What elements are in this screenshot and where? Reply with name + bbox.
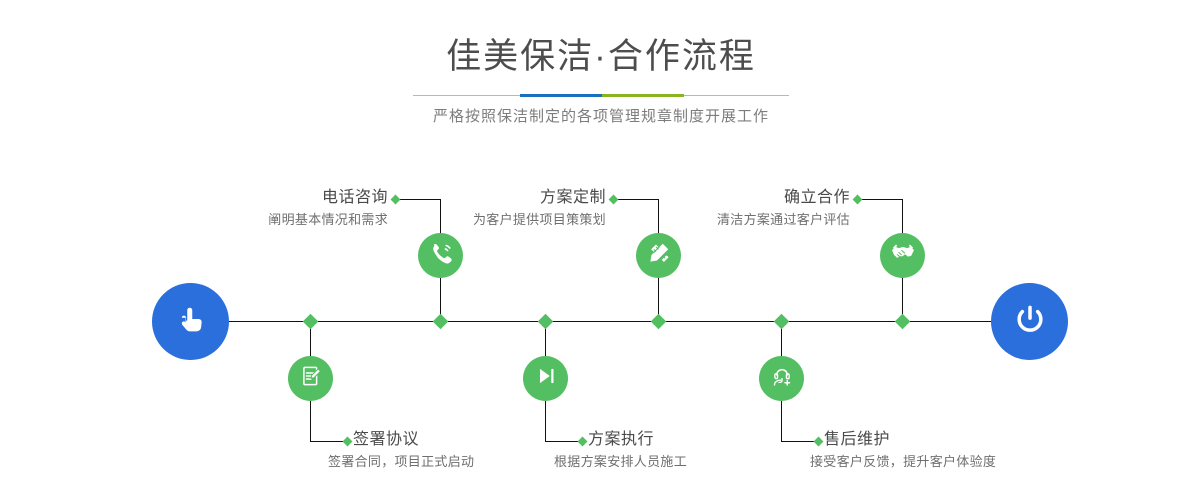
pencil-ruler-icon [646, 240, 672, 271]
step-icon-6[interactable] [759, 356, 804, 401]
step-label-4: 方案执行 根据方案安排人员施工 [588, 430, 687, 472]
step-icon-1[interactable] [418, 233, 463, 278]
step-title-6: 售后维护 [824, 430, 996, 450]
lead-vertical-step-2 [310, 401, 311, 442]
step-icon-4[interactable] [523, 356, 568, 401]
play-next-icon [534, 364, 558, 393]
step-subtitle-3: 为客户提供项目策策划 [373, 210, 606, 230]
lead-vertical-step-6 [781, 401, 782, 442]
step-label-1: 电话咨询 阐明基本情况和需求 [155, 188, 388, 230]
step-title-5: 确立合作 [617, 188, 850, 208]
step-icon-2[interactable] [288, 356, 333, 401]
lead-horizontal-step-3 [613, 199, 659, 200]
lead-vertical-step-4 [545, 401, 546, 442]
axis-marker-step-1 [433, 314, 449, 330]
step-title-4: 方案执行 [588, 430, 687, 450]
power-icon [1010, 299, 1050, 344]
customer-support-add-icon [770, 364, 794, 393]
axis-marker-step-2 [303, 314, 319, 330]
step-icon-3[interactable] [636, 233, 681, 278]
axis-marker-step-3 [651, 314, 667, 330]
step-subtitle-4: 根据方案安排人员施工 [554, 452, 687, 472]
step-title-2: 签署协议 [353, 430, 474, 450]
lead-horizontal-step-1 [395, 199, 441, 200]
pointing-hand-icon [171, 299, 211, 344]
lead-horizontal-step-5 [857, 199, 903, 200]
axis-marker-step-6 [774, 314, 790, 330]
step-label-5: 确立合作 清洁方案通过客户评估 [617, 188, 850, 230]
lead-dot-step-6 [814, 437, 824, 447]
process-flow-infographic: 佳美保洁·合作流程 严格按照保洁制定的各项管理规章制度开展工作 [0, 0, 1202, 502]
lead-vertical-step-5 [902, 199, 903, 234]
timeline: 电话咨询 阐明基本情况和需求 签署协议 签署合同，项目正式启动 [0, 0, 1202, 502]
lead-vertical-step-3 [658, 199, 659, 234]
axis-marker-step-4 [538, 314, 554, 330]
lead-dot-step-4 [578, 437, 588, 447]
step-icon-5[interactable] [880, 233, 925, 278]
step-title-3: 方案定制 [373, 188, 606, 208]
document-edit-icon [299, 364, 323, 393]
lead-dot-step-5 [853, 195, 863, 205]
step-label-2: 签署协议 签署合同，项目正式启动 [353, 430, 474, 472]
step-subtitle-6: 接受客户反馈，提升客户体验度 [810, 452, 996, 472]
step-label-6: 售后维护 接受客户反馈，提升客户体验度 [824, 430, 996, 472]
handshake-icon [890, 240, 916, 271]
axis-marker-step-5 [895, 314, 911, 330]
lead-dot-step-2 [343, 437, 353, 447]
timeline-start-cap[interactable] [152, 283, 229, 360]
phone-call-icon [428, 240, 454, 271]
step-subtitle-2: 签署合同，项目正式启动 [328, 452, 474, 472]
timeline-end-cap[interactable] [991, 283, 1068, 360]
step-label-3: 方案定制 为客户提供项目策策划 [373, 188, 606, 230]
step-subtitle-5: 清洁方案通过客户评估 [617, 210, 850, 230]
lead-vertical-step-1 [440, 199, 441, 234]
step-subtitle-1: 阐明基本情况和需求 [155, 210, 388, 230]
step-title-1: 电话咨询 [155, 188, 388, 208]
